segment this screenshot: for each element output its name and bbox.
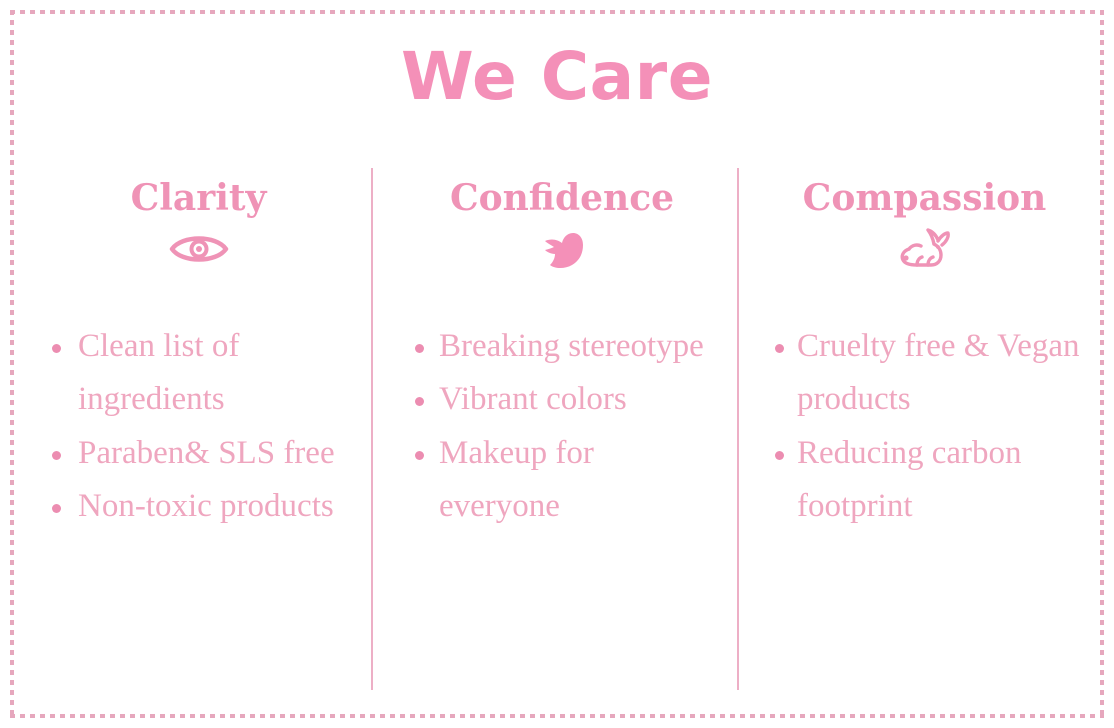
column-heading-clarity: Clarity (42, 180, 355, 216)
column-heading-confidence: Confidence (405, 180, 719, 216)
values-columns: Clarity Clean list of ingredients Parabe… (20, 168, 1094, 692)
list-item-text: Clean list of ingredients (78, 328, 239, 417)
border-right (1100, 10, 1104, 718)
bullet-dot-icon (52, 451, 61, 460)
page-title: We Care (0, 44, 1114, 110)
bullet-dot-icon (52, 344, 61, 353)
border-top (10, 10, 1104, 14)
list-item-text: Non-toxic products (78, 488, 334, 524)
bullet-list-compassion: Cruelty free & Vegan products Reducing c… (765, 320, 1084, 534)
bullet-dot-icon (52, 504, 61, 513)
list-item-text: Paraben& SLS free (78, 435, 335, 471)
list-item: Breaking stereotype (405, 320, 719, 373)
bullet-dot-icon (415, 397, 424, 406)
list-item: Vibrant colors (405, 373, 719, 426)
list-item-text: Cruelty free & Vegan products (797, 328, 1080, 417)
list-item: Non-toxic products (42, 480, 355, 533)
list-item-text: Vibrant colors (439, 381, 627, 417)
list-item-text: Makeup for everyone (439, 435, 594, 524)
flexed-bicep-icon (405, 222, 719, 276)
border-bottom (10, 714, 1104, 718)
bullet-dot-icon (775, 451, 784, 460)
column-confidence: Confidence Breaking stereotype Vibrant c… (371, 168, 737, 692)
list-item: Paraben& SLS free (42, 427, 355, 480)
column-compassion: Compassion (737, 168, 1094, 692)
list-item: Reducing carbon footprint (765, 427, 1084, 534)
column-heading-compassion: Compassion (765, 180, 1084, 216)
bullet-dot-icon (775, 344, 784, 353)
bullet-list-clarity: Clean list of ingredients Paraben& SLS f… (42, 320, 355, 534)
bullet-dot-icon (415, 451, 424, 460)
list-item-text: Breaking stereotype (439, 328, 704, 364)
list-item: Cruelty free & Vegan products (765, 320, 1084, 427)
bullet-list-confidence: Breaking stereotype Vibrant colors Makeu… (405, 320, 719, 534)
column-clarity: Clarity Clean list of ingredients Parabe… (20, 168, 371, 692)
list-item-text: Reducing carbon footprint (797, 435, 1022, 524)
eye-icon (42, 222, 355, 276)
rabbit-icon (765, 222, 1084, 276)
list-item: Clean list of ingredients (42, 320, 355, 427)
border-left (10, 10, 14, 718)
list-item: Makeup for everyone (405, 427, 719, 534)
bullet-dot-icon (415, 344, 424, 353)
we-care-poster: We Care Clarity Clean list of ingredient… (0, 0, 1114, 728)
